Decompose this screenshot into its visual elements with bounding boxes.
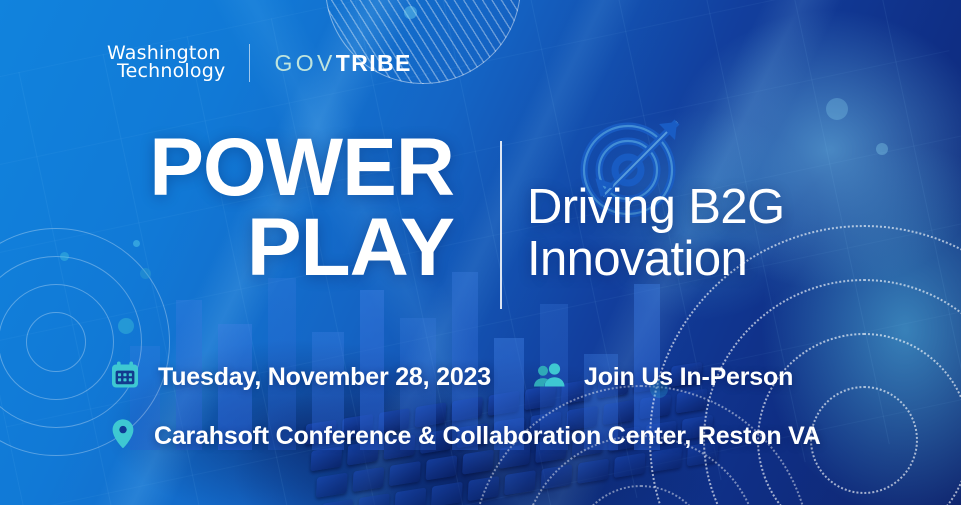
- event-promo-banner: Washington Technology GOVTRIBE POWER PLA…: [0, 0, 961, 505]
- event-attendance-label: Join Us In-Person: [584, 363, 793, 392]
- vertical-divider-icon: [249, 44, 250, 82]
- page-title: POWER PLAY: [0, 128, 490, 287]
- map-pin-icon: [110, 418, 136, 455]
- headline-divider: [500, 141, 502, 309]
- govtribe-logo[interactable]: GOVTRIBE: [274, 50, 411, 77]
- subtitle-line2: Innovation: [527, 234, 857, 286]
- banner-content: Washington Technology GOVTRIBE POWER PLA…: [0, 0, 961, 505]
- page-subtitle: Driving B2G Innovation: [527, 182, 857, 286]
- govtribe-logo-tribe: TRIBE: [336, 50, 412, 76]
- logo-bar: Washington Technology GOVTRIBE: [107, 44, 412, 82]
- govtribe-logo-gov: GOV: [274, 50, 335, 76]
- event-venue-row: Carahsoft Conference & Collaboration Cen…: [110, 418, 821, 455]
- subtitle-line1: Driving B2G: [527, 182, 857, 234]
- people-icon: [534, 360, 566, 395]
- event-date-row: Tuesday, November 28, 2023: [110, 360, 491, 395]
- headline-line2: PLAY: [0, 208, 454, 288]
- event-venue-label: Carahsoft Conference & Collaboration Cen…: [154, 422, 821, 451]
- event-attendance-row: Join Us In-Person: [534, 360, 793, 395]
- calendar-icon: [110, 360, 140, 395]
- event-date-label: Tuesday, November 28, 2023: [158, 363, 491, 392]
- washington-technology-logo[interactable]: Washington Technology: [107, 45, 225, 81]
- headline-line1: POWER: [0, 128, 454, 208]
- wt-logo-line2: Technology: [107, 63, 225, 81]
